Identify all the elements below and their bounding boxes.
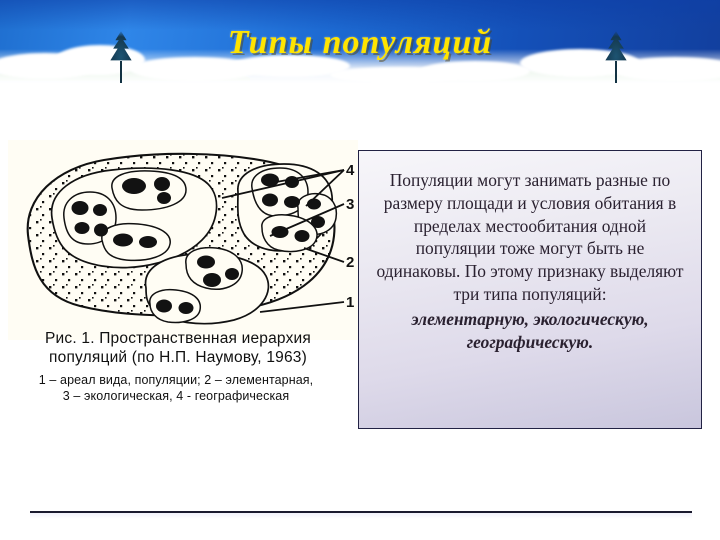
slide: Типы популяций — [0, 0, 720, 540]
header-banner: Типы популяций — [0, 0, 720, 83]
textbox-paragraph: Популяции могут занимать разные по разме… — [373, 169, 687, 306]
figure-caption-line-2: популяций (по Н.П. Наумову, 1963) — [0, 349, 356, 368]
diagram-label-2: 2 — [346, 254, 354, 271]
diagram-label-1: 1 — [346, 294, 354, 311]
population-hierarchy-diagram: 4 3 2 1 — [8, 140, 358, 340]
figure-image: 4 3 2 1 — [8, 140, 358, 340]
cloud-icon — [330, 67, 470, 83]
figure-legend-line-1: 1 – ареал вида, популяции; 2 – элементар… — [0, 372, 352, 388]
diagram-labels: 4 3 2 1 — [346, 162, 355, 311]
page-title: Типы популяций — [0, 24, 720, 62]
footer-divider-glow — [30, 513, 692, 519]
diagram-label-4: 4 — [346, 162, 355, 179]
content-textbox: Популяции могут занимать разные по разме… — [358, 150, 702, 429]
figure-legend: 1 – ареал вида, популяции; 2 – элементар… — [0, 372, 352, 405]
textbox-emphasis-wrap: элементарную, экологическую, географичес… — [373, 308, 687, 354]
figure-caption: Рис. 1. Пространственная иерархия популя… — [0, 330, 356, 368]
textbox-emphasis: элементарную, экологическую, географичес… — [373, 308, 687, 354]
tree-trunk — [120, 61, 122, 83]
figure-caption-line-1: Рис. 1. Пространственная иерархия — [0, 330, 356, 349]
diagram-label-3: 3 — [346, 196, 354, 213]
tree-trunk — [615, 61, 617, 83]
figure-legend-line-2: 3 – экологическая, 4 - географическая — [0, 388, 352, 404]
